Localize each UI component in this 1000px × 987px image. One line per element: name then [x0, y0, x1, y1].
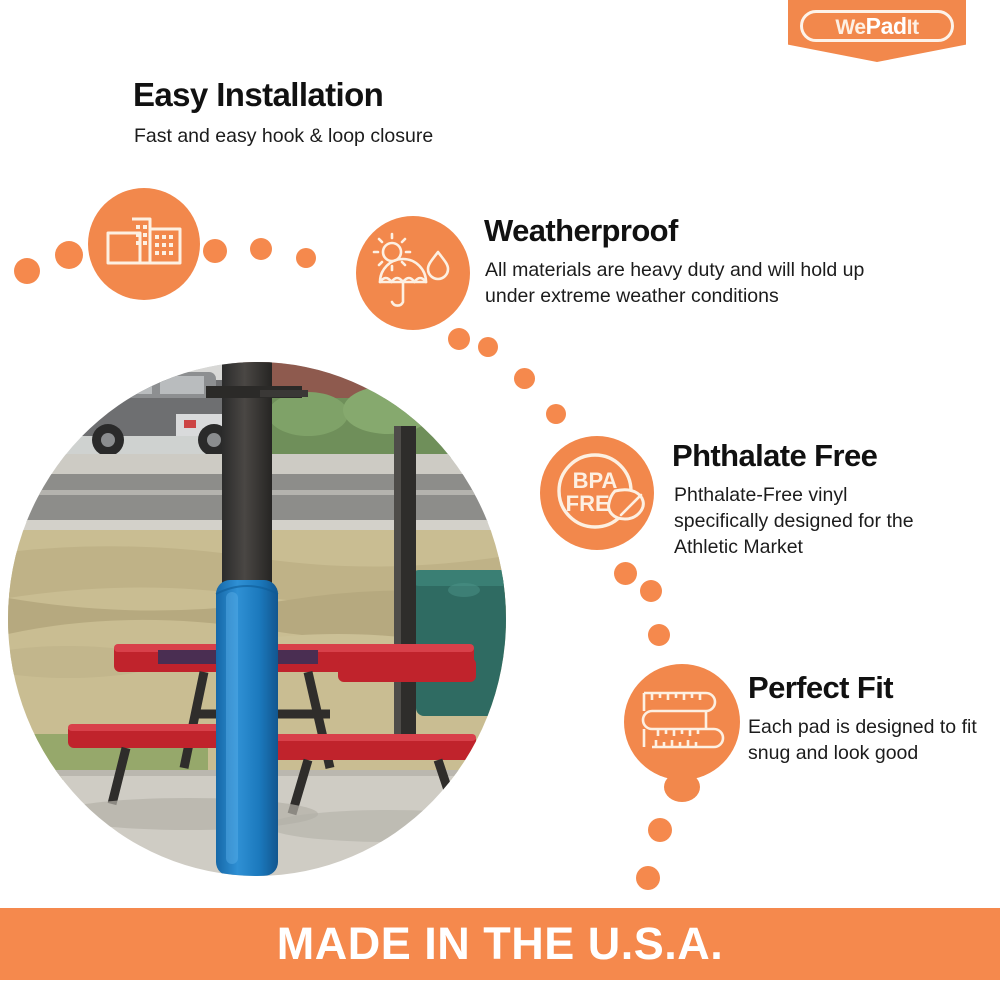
- building-icon: [104, 209, 184, 279]
- made-in-usa-text: MADE IN THE U.S.A.: [277, 918, 724, 970]
- umbrella-sun-raindrop-icon: [370, 232, 456, 314]
- tape-pull-tab: [664, 772, 700, 802]
- trail-dot: [296, 248, 316, 268]
- brand-logo-we: We: [835, 16, 865, 39]
- feature-description-phthalate-free: Phthalate-Free vinyl specifically design…: [674, 483, 944, 561]
- trail-dot: [250, 238, 272, 260]
- infographic-page: WePadIt Easy Installation Fast and easy …: [0, 0, 1000, 987]
- trail-dot: [546, 404, 566, 424]
- trail-dot: [640, 580, 662, 602]
- trail-dot: [514, 368, 535, 389]
- brand-logo-pad: Pad: [866, 13, 907, 39]
- brand-logo-frame: WePadIt: [800, 10, 954, 42]
- icon-weatherproof: [356, 216, 470, 330]
- trail-dot: [55, 241, 83, 269]
- trail-dot: [648, 624, 670, 646]
- measuring-tape-icon: [636, 679, 728, 765]
- trail-dot: [448, 328, 470, 350]
- feature-title-easy-installation: Easy Installation: [133, 78, 383, 113]
- trail-dot: [203, 239, 227, 263]
- trail-dot: [478, 337, 498, 357]
- product-photo: [8, 362, 506, 876]
- product-photo-illustration: [8, 362, 506, 876]
- trail-dot: [636, 866, 660, 890]
- trail-dot: [14, 258, 40, 284]
- brand-logo-text: WePadIt: [835, 15, 918, 38]
- icon-phthalate-free: BPA FREE: [540, 436, 654, 550]
- bpa-label: BPA: [573, 468, 618, 493]
- made-in-usa-banner: MADE IN THE U.S.A.: [0, 908, 1000, 980]
- feature-description-weatherproof: All materials are heavy duty and will ho…: [485, 258, 915, 310]
- brand-logo-it: It: [907, 16, 919, 39]
- feature-title-perfect-fit: Perfect Fit: [748, 672, 893, 705]
- brand-logo-banner: WePadIt: [788, 0, 966, 62]
- feature-description-perfect-fit: Each pad is designed to fit snug and loo…: [748, 715, 978, 767]
- trail-dot: [648, 818, 672, 842]
- trail-dot: [614, 562, 637, 585]
- feature-title-phthalate-free: Phthalate Free: [672, 440, 877, 473]
- icon-perfect-fit: [624, 664, 740, 780]
- bpa-free-leaf-icon: BPA FREE: [545, 441, 649, 545]
- feature-description-easy-installation: Fast and easy hook & loop closure: [134, 124, 554, 150]
- blue-pole-pad: [216, 580, 278, 876]
- icon-building: [88, 188, 200, 300]
- feature-title-weatherproof: Weatherproof: [484, 215, 678, 248]
